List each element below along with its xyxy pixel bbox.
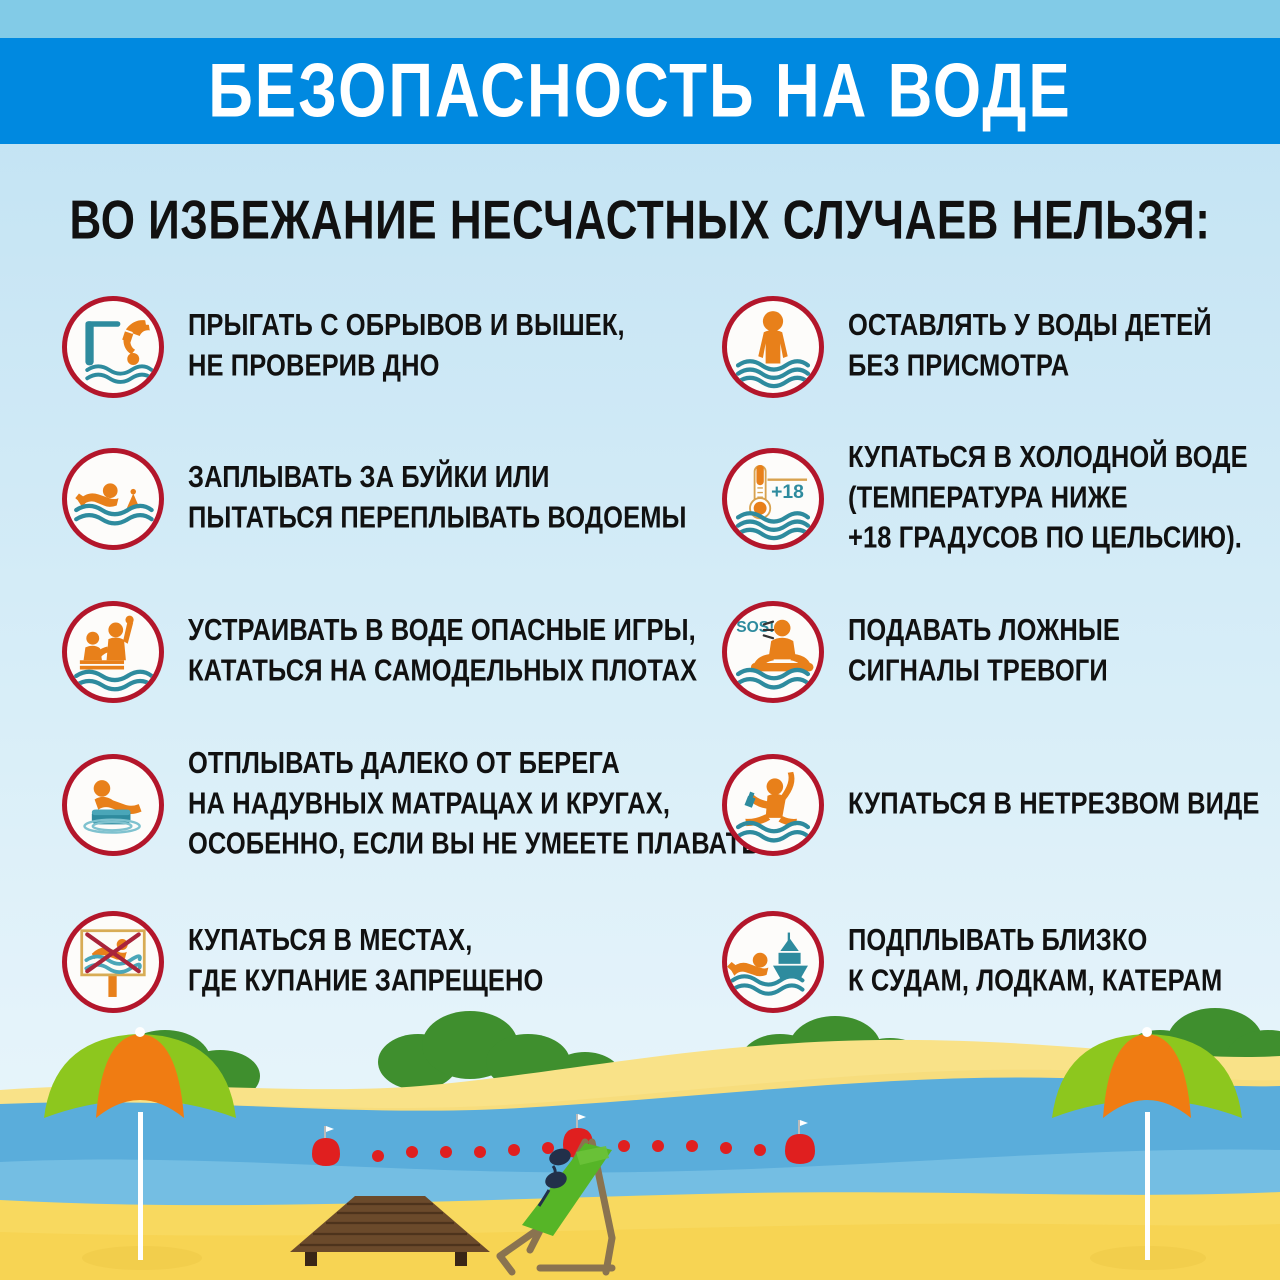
header-bar: БЕЗОПАСНОСТЬ НА ВОДЕ <box>0 38 1280 144</box>
rule-text: КУПАТЬСЯ В НЕТРЕЗВОМ ВИДЕ <box>848 785 1259 825</box>
rule-line: ПРЫГАТЬ С ОБРЫВОВ И ВЫШЕК, <box>188 307 625 347</box>
drunk-swimming-icon <box>722 754 824 856</box>
swim-past-buoys-icon <box>62 448 164 550</box>
rule-item: SOS! <box>722 601 1120 703</box>
sos-label: SOS! <box>736 619 774 636</box>
rule-text: ЗАПЛЫВАТЬ ЗА БУЙКИ ИЛИ ПЫТАТЬСЯ ПЕРЕПЛЫВ… <box>188 459 687 539</box>
unattended-child-icon <box>722 296 824 398</box>
page-title: БЕЗОПАСНОСТЬ НА ВОДЕ <box>208 48 1072 135</box>
rule-item: УСТРАИВАТЬ В ВОДЕ ОПАСНЫЕ ИГРЫ, КАТАТЬСЯ… <box>62 601 697 703</box>
rule-line: ОТПЛЫВАТЬ ДАЛЕКО ОТ БЕРЕГА <box>188 745 760 785</box>
rule-text: КУПАТЬСЯ В ХОЛОДНОЙ ВОДЕ (ТЕМПЕРАТУРА НИ… <box>848 439 1248 559</box>
rule-line: НЕ ПРОВЕРИВ ДНО <box>188 347 625 387</box>
rule-line: К СУДАМ, ЛОДКАМ, КАТЕРАМ <box>848 962 1222 1002</box>
rule-line: КУПАТЬСЯ В ХОЛОДНОЙ ВОДЕ <box>848 439 1248 479</box>
rules-columns: ПРЫГАТЬ С ОБРЫВОВ И ВЫШЕК, НЕ ПРОВЕРИВ Д… <box>0 296 1280 1036</box>
rule-line: ПОДПЛЫВАТЬ БЛИЗКО <box>848 922 1222 962</box>
rule-line: КАТАТЬСЯ НА САМОДЕЛЬНЫХ ПЛОТАХ <box>188 652 697 692</box>
poster: БЕЗОПАСНОСТЬ НА ВОДЕ ВО ИЗБЕЖАНИЕ НЕСЧАС… <box>0 0 1280 1280</box>
rule-line: ОСТАВЛЯТЬ У ВОДЫ ДЕТЕЙ <box>848 307 1212 347</box>
rule-item: КУПАТЬСЯ В МЕСТАХ, ГДЕ КУПАНИЕ ЗАПРЕЩЕНО <box>62 911 543 1013</box>
rule-line: БЕЗ ПРИСМОТРА <box>848 347 1212 387</box>
rule-line: ЗАПЛЫВАТЬ ЗА БУЙКИ ИЛИ <box>188 459 687 499</box>
rule-text: ПОДПЛЫВАТЬ БЛИЗКО К СУДАМ, ЛОДКАМ, КАТЕР… <box>848 922 1222 1002</box>
rule-line: ПОДАВАТЬ ЛОЖНЫЕ <box>848 612 1120 652</box>
cliff-diving-icon <box>62 296 164 398</box>
rule-line: УСТРАИВАТЬ В ВОДЕ ОПАСНЫЕ ИГРЫ, <box>188 612 697 652</box>
rule-line: (ТЕМПЕРАТУРА НИЖЕ <box>848 479 1248 519</box>
rule-item: ОСТАВЛЯТЬ У ВОДЫ ДЕТЕЙ БЕЗ ПРИСМОТРА <box>722 296 1212 398</box>
rule-item: ЗАПЛЫВАТЬ ЗА БУЙКИ ИЛИ ПЫТАТЬСЯ ПЕРЕПЛЫВ… <box>62 448 687 550</box>
rule-text: ПРЫГАТЬ С ОБРЫВОВ И ВЫШЕК, НЕ ПРОВЕРИВ Д… <box>188 307 625 387</box>
rule-line: НА НАДУВНЫХ МАТРАЦАХ И КРУГАХ, <box>188 785 760 825</box>
dangerous-water-games-icon <box>62 601 164 703</box>
beach-scene <box>0 1000 1280 1280</box>
cold-water-thermometer-icon: +18 <box>722 448 824 550</box>
rule-line: СИГНАЛЫ ТРЕВОГИ <box>848 652 1120 692</box>
rule-item: ПОДПЛЫВАТЬ БЛИЗКО К СУДАМ, ЛОДКАМ, КАТЕР… <box>722 911 1222 1013</box>
rule-line: КУПАТЬСЯ В НЕТРЕЗВОМ ВИДЕ <box>848 785 1259 825</box>
rule-item: +18 КУПАТЬСЯ В ХОЛОДНОЙ ВОДЕ (ТЕМПЕРАТУР… <box>722 448 1248 550</box>
false-alarm-sos-icon: SOS! <box>722 601 824 703</box>
rule-line: ГДЕ КУПАНИЕ ЗАПРЕЩЕНО <box>188 962 543 1002</box>
rule-item: КУПАТЬСЯ В НЕТРЕЗВОМ ВИДЕ <box>722 754 1259 856</box>
rule-line: +18 ГРАДУСОВ ПО ЦЕЛЬСИЮ). <box>848 519 1248 559</box>
thermometer-value: +18 <box>771 482 804 503</box>
rule-line: ПЫТАТЬСЯ ПЕРЕПЛЫВАТЬ ВОДОЕМЫ <box>188 499 687 539</box>
rule-item: ПРЫГАТЬ С ОБРЫВОВ И ВЫШЕК, НЕ ПРОВЕРИВ Д… <box>62 296 625 398</box>
rule-line: КУПАТЬСЯ В МЕСТАХ, <box>188 922 543 962</box>
no-swimming-sign-icon <box>62 911 164 1013</box>
subtitle: ВО ИЗБЕЖАНИЕ НЕСЧАСТНЫХ СЛУЧАЕВ НЕЛЬЗЯ: <box>0 190 1280 253</box>
rule-text: ПОДАВАТЬ ЛОЖНЫЕ СИГНАЛЫ ТРЕВОГИ <box>848 612 1120 692</box>
rule-text: КУПАТЬСЯ В МЕСТАХ, ГДЕ КУПАНИЕ ЗАПРЕЩЕНО <box>188 922 543 1002</box>
rule-text: УСТРАИВАТЬ В ВОДЕ ОПАСНЫЕ ИГРЫ, КАТАТЬСЯ… <box>188 612 697 692</box>
rule-text: ОТПЛЫВАТЬ ДАЛЕКО ОТ БЕРЕГА НА НАДУВНЫХ М… <box>188 745 760 865</box>
rule-item: ОТПЛЫВАТЬ ДАЛЕКО ОТ БЕРЕГА НА НАДУВНЫХ М… <box>62 754 760 856</box>
inflatable-mattress-icon <box>62 754 164 856</box>
swim-near-boats-icon <box>722 911 824 1013</box>
rule-line: ОСОБЕННО, ЕСЛИ ВЫ НЕ УМЕЕТЕ ПЛАВАТЬ <box>188 825 760 865</box>
rule-text: ОСТАВЛЯТЬ У ВОДЫ ДЕТЕЙ БЕЗ ПРИСМОТРА <box>848 307 1212 387</box>
sky-strip <box>0 0 1280 38</box>
